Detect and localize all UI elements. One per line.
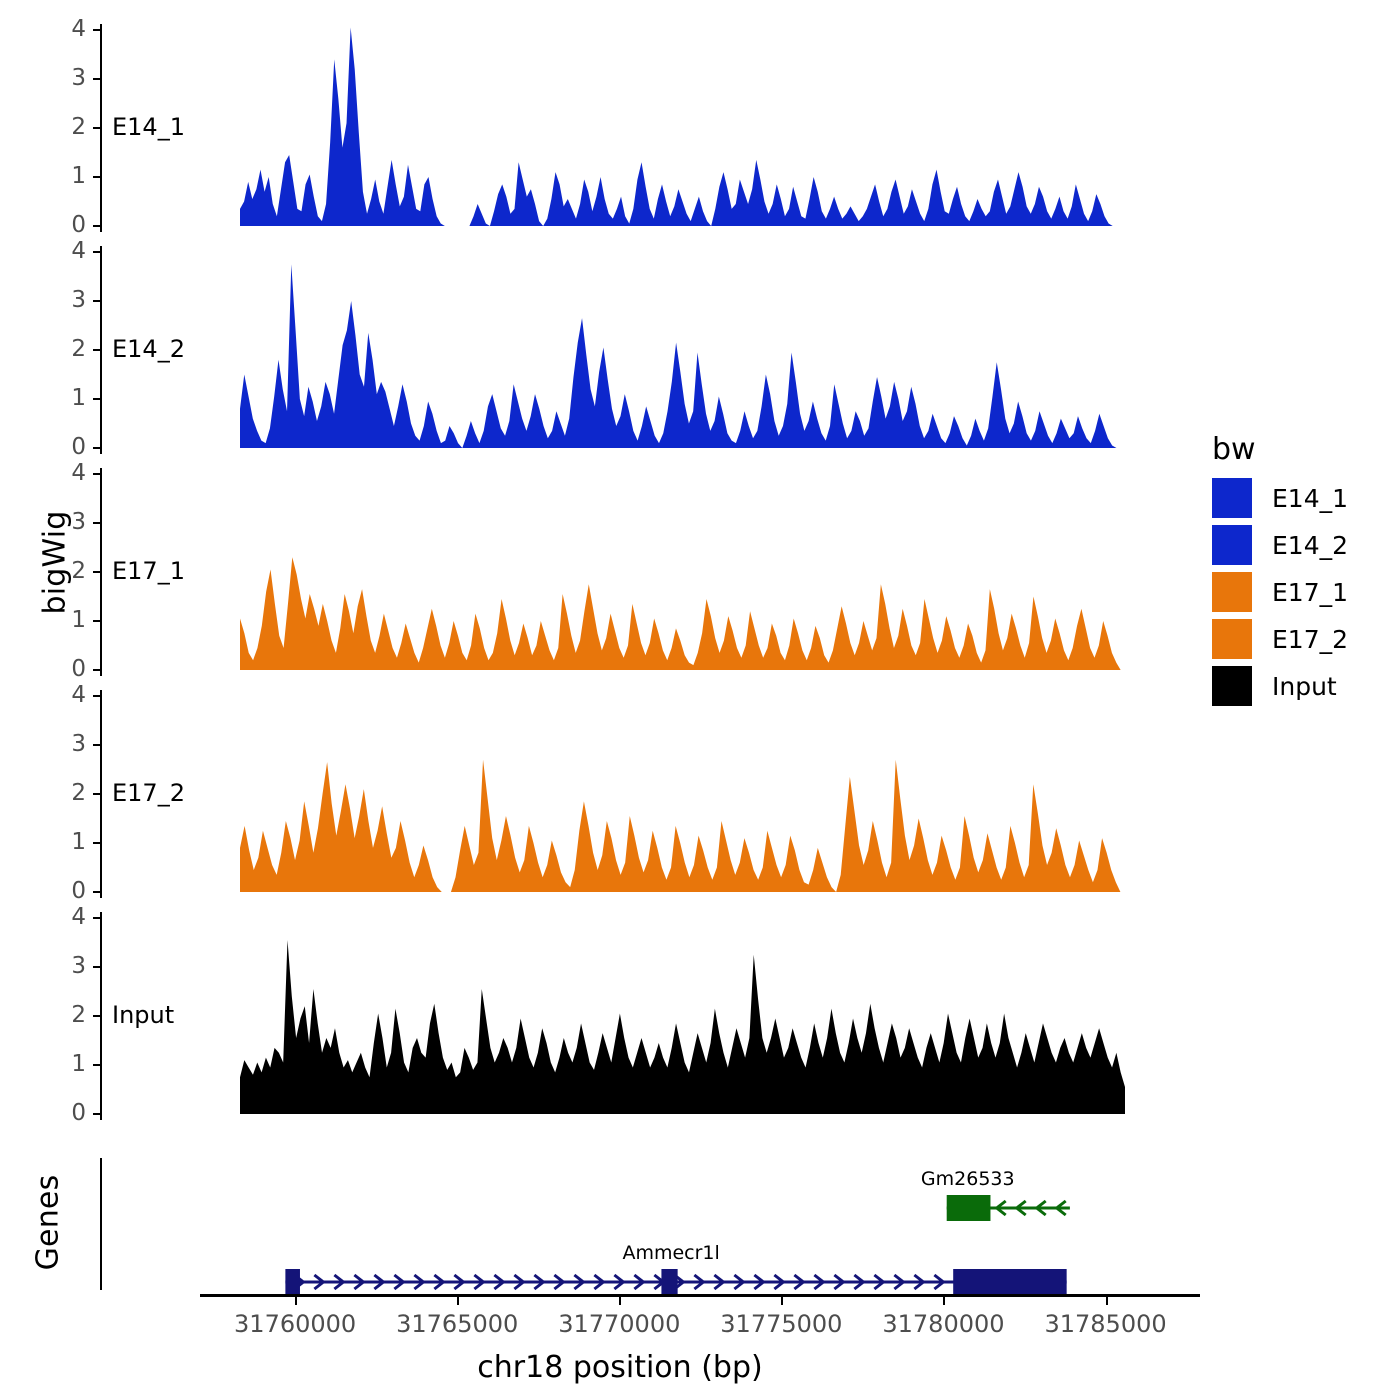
y-tick-mark [93,251,100,253]
y-tick-label: 3 [48,511,86,534]
y-tick-label: 1 [48,387,86,410]
coverage-area-e17_1 [100,466,1140,678]
genome-browser-figure: bigWigGenes01234E14_101234E14_201234E17_… [0,0,1400,1400]
legend-swatch-e17_2 [1212,619,1252,659]
y-tick-mark [93,917,100,919]
y-tick-mark [93,891,100,893]
y-tick-mark [93,447,100,449]
coverage-area-e14_2 [100,244,1140,456]
x-tick-label: 31770000 [529,1310,709,1338]
y-tick-mark [93,1064,100,1066]
y-tick-mark [93,29,100,31]
y-tick-label: 1 [48,831,86,854]
x-tick-label: 31765000 [367,1310,547,1338]
legend-item-e17_2[interactable]: E17_2 [1212,619,1348,659]
y-tick-mark [93,300,100,302]
coverage-area-input [100,910,1140,1122]
legend-item-input[interactable]: Input [1212,666,1337,706]
y-tick-label: 0 [48,214,86,237]
y-tick-label: 1 [48,1053,86,1076]
y-tick-label: 2 [48,782,86,805]
y-tick-mark [93,522,100,524]
x-tick-mark [943,1297,945,1305]
y-tick-label: 4 [48,684,86,707]
y-tick-label: 0 [48,1102,86,1125]
legend-swatch-input [1212,666,1252,706]
x-tick-mark [781,1297,783,1305]
legend-label: E17_2 [1272,625,1348,654]
x-tick-label: 31775000 [691,1310,871,1338]
y-tick-mark [93,176,100,178]
y-tick-label: 4 [48,906,86,929]
y-tick-label: 3 [48,955,86,978]
y-tick-mark [93,473,100,475]
y-tick-label: 3 [48,67,86,90]
y-tick-label: 4 [48,240,86,263]
x-axis-line [200,1294,1200,1297]
y-tick-mark [93,744,100,746]
y-tick-mark [93,1015,100,1017]
y-tick-mark [93,127,100,129]
y-tick-label: 0 [48,880,86,903]
y-tick-mark [93,695,100,697]
y-tick-label: 3 [48,733,86,756]
legend-item-e17_1[interactable]: E17_1 [1212,572,1348,612]
x-tick-label: 31780000 [853,1310,1033,1338]
legend-item-e14_2[interactable]: E14_2 [1212,525,1348,565]
y-tick-label: 0 [48,658,86,681]
y-tick-mark [93,398,100,400]
legend-label: E14_1 [1272,484,1348,513]
y-tick-mark [93,349,100,351]
legend-label: Input [1272,672,1337,701]
y-tick-mark [93,78,100,80]
x-tick-label: 31760000 [205,1310,385,1338]
y-tick-mark [93,571,100,573]
x-axis-title: chr18 position (bp) [100,1350,1140,1385]
legend-swatch-e17_1 [1212,572,1252,612]
y-tick-mark [93,842,100,844]
y-tick-mark [93,669,100,671]
y-tick-mark [93,225,100,227]
x-tick-mark [295,1297,297,1305]
y-tick-mark [93,966,100,968]
x-tick-mark [457,1297,459,1305]
y-tick-mark [93,620,100,622]
y-tick-label: 3 [48,289,86,312]
legend-title: bw [1212,432,1256,467]
y-tick-mark [93,1113,100,1115]
y-tick-mark [93,793,100,795]
gene-models [0,1158,1400,1300]
x-tick-mark [1106,1297,1108,1305]
y-tick-label: 1 [48,165,86,188]
legend-swatch-e14_2 [1212,525,1252,565]
legend-label: E17_1 [1272,578,1348,607]
coverage-area-e17_2 [100,688,1140,900]
y-tick-label: 2 [48,560,86,583]
y-tick-label: 2 [48,338,86,361]
legend-swatch-e14_1 [1212,478,1252,518]
y-tick-label: 0 [48,436,86,459]
x-tick-mark [619,1297,621,1305]
y-tick-label: 2 [48,116,86,139]
y-tick-label: 2 [48,1004,86,1027]
coverage-area-e14_1 [100,22,1140,234]
legend-item-e14_1[interactable]: E14_1 [1212,478,1348,518]
legend-label: E14_2 [1272,531,1348,560]
x-tick-label: 31785000 [1016,1310,1196,1338]
y-tick-label: 4 [48,462,86,485]
y-tick-label: 1 [48,609,86,632]
y-tick-label: 4 [48,18,86,41]
